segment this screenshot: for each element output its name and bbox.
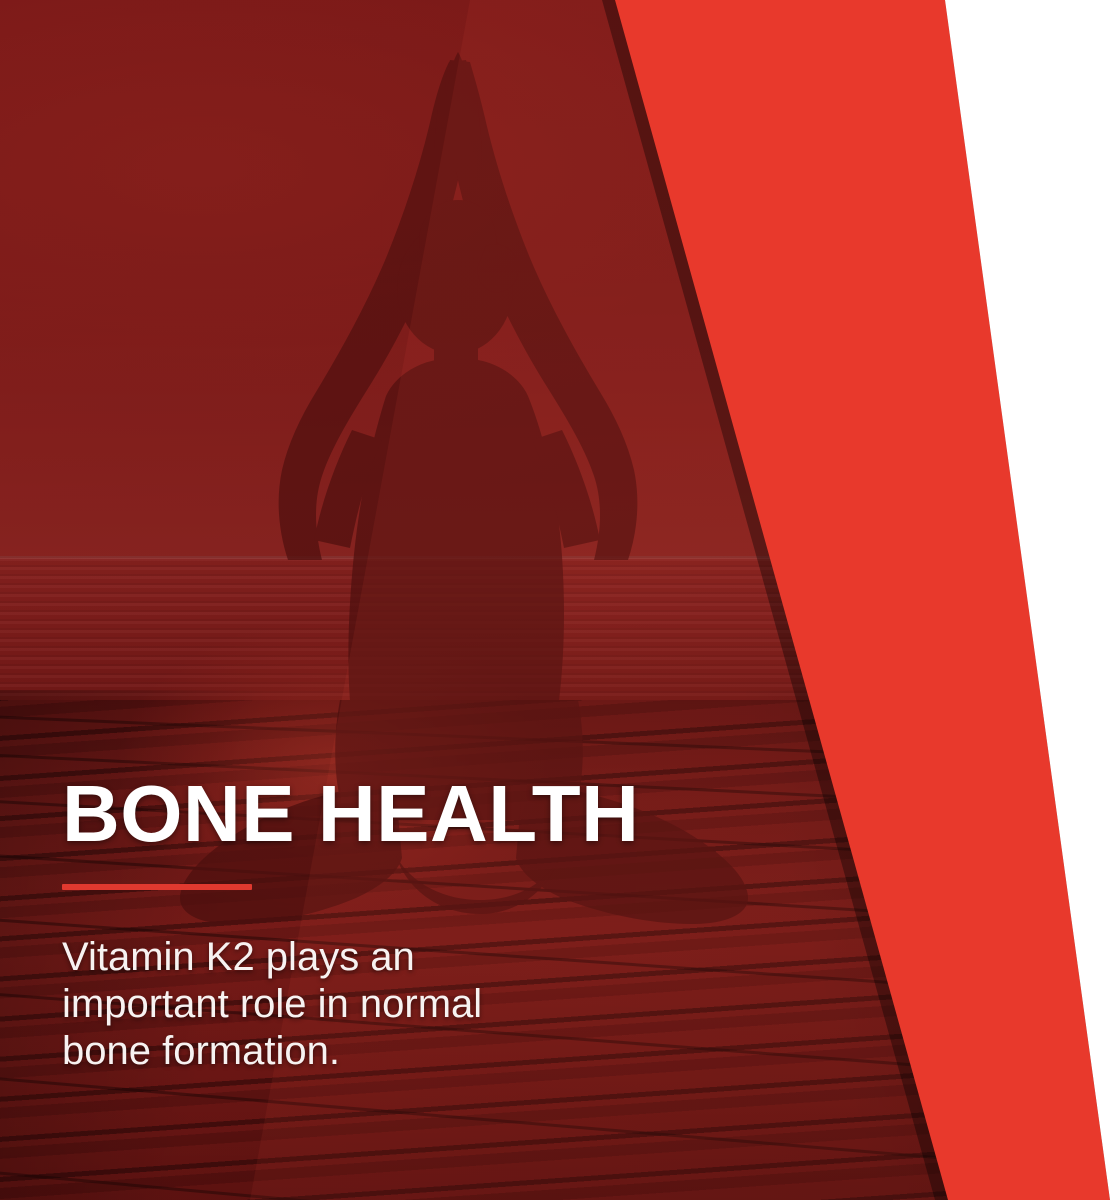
page-title: BONE HEALTH bbox=[62, 772, 682, 856]
bone-health-banner: BONE HEALTH Vitamin K2 plays an importan… bbox=[0, 0, 1117, 1200]
banner-content: BONE HEALTH Vitamin K2 plays an importan… bbox=[62, 772, 682, 1115]
subcopy-text: Vitamin K2 plays an important role in no… bbox=[62, 934, 562, 1075]
accent-rule-divider bbox=[62, 884, 252, 890]
